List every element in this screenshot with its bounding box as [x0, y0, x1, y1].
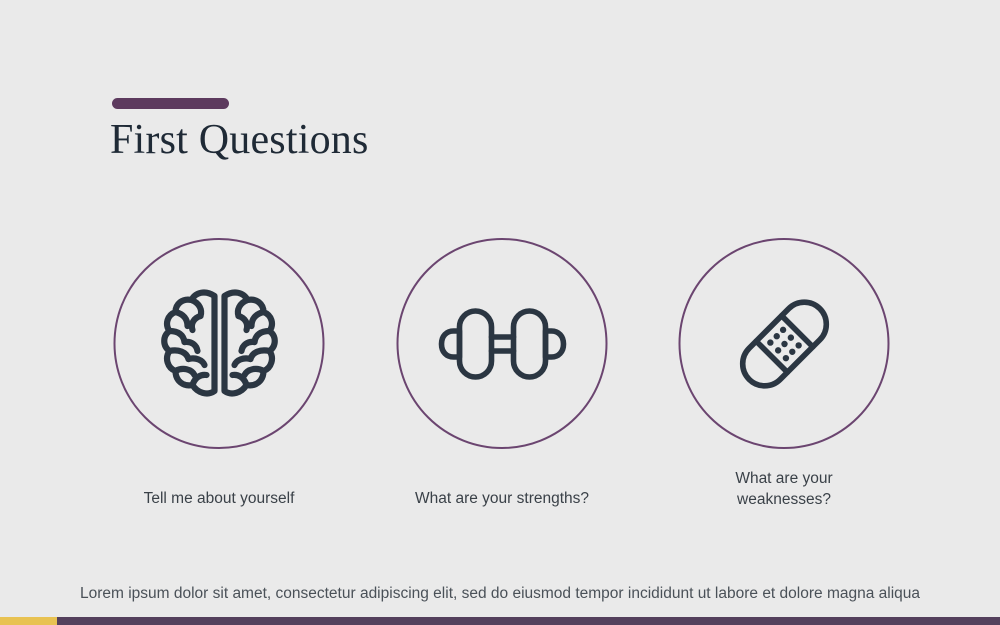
card-caption-text: What are your strengths? — [415, 490, 589, 507]
card-caption: Tell me about yourself — [76, 488, 362, 509]
dumbbell-icon — [431, 301, 573, 387]
card-what-are-your-weaknesses[interactable]: What are your weaknesses? — [641, 238, 927, 528]
bottom-bar-gold-segment — [0, 617, 57, 625]
card-tell-me-about-yourself[interactable]: Tell me about yourself — [76, 238, 362, 528]
bandage-icon — [722, 282, 846, 406]
title-accent-bar — [112, 98, 229, 109]
card-what-are-your-strengths[interactable]: What are your strengths? — [359, 238, 645, 528]
icon-circle-brain — [114, 238, 325, 449]
card-caption-line-2: weaknesses? — [641, 489, 927, 510]
bottom-bar-purple-segment — [57, 617, 1000, 625]
card-caption: What are your weaknesses? — [641, 468, 927, 510]
slide: First Questions — [0, 0, 1000, 625]
card-caption-text: Tell me about yourself — [144, 490, 295, 507]
card-caption: What are your strengths? — [359, 488, 645, 509]
icon-circle-dumbbell — [397, 238, 608, 449]
brain-icon — [159, 286, 279, 402]
footer-text: Lorem ipsum dolor sit amet, consectetur … — [0, 583, 1000, 605]
card-caption-line-1: What are your — [641, 468, 927, 489]
bottom-accent-bar — [0, 617, 1000, 625]
icon-circle-bandage — [679, 238, 890, 449]
cards-row: Tell me about yourself — [0, 238, 1000, 528]
page-title: First Questions — [110, 112, 369, 168]
